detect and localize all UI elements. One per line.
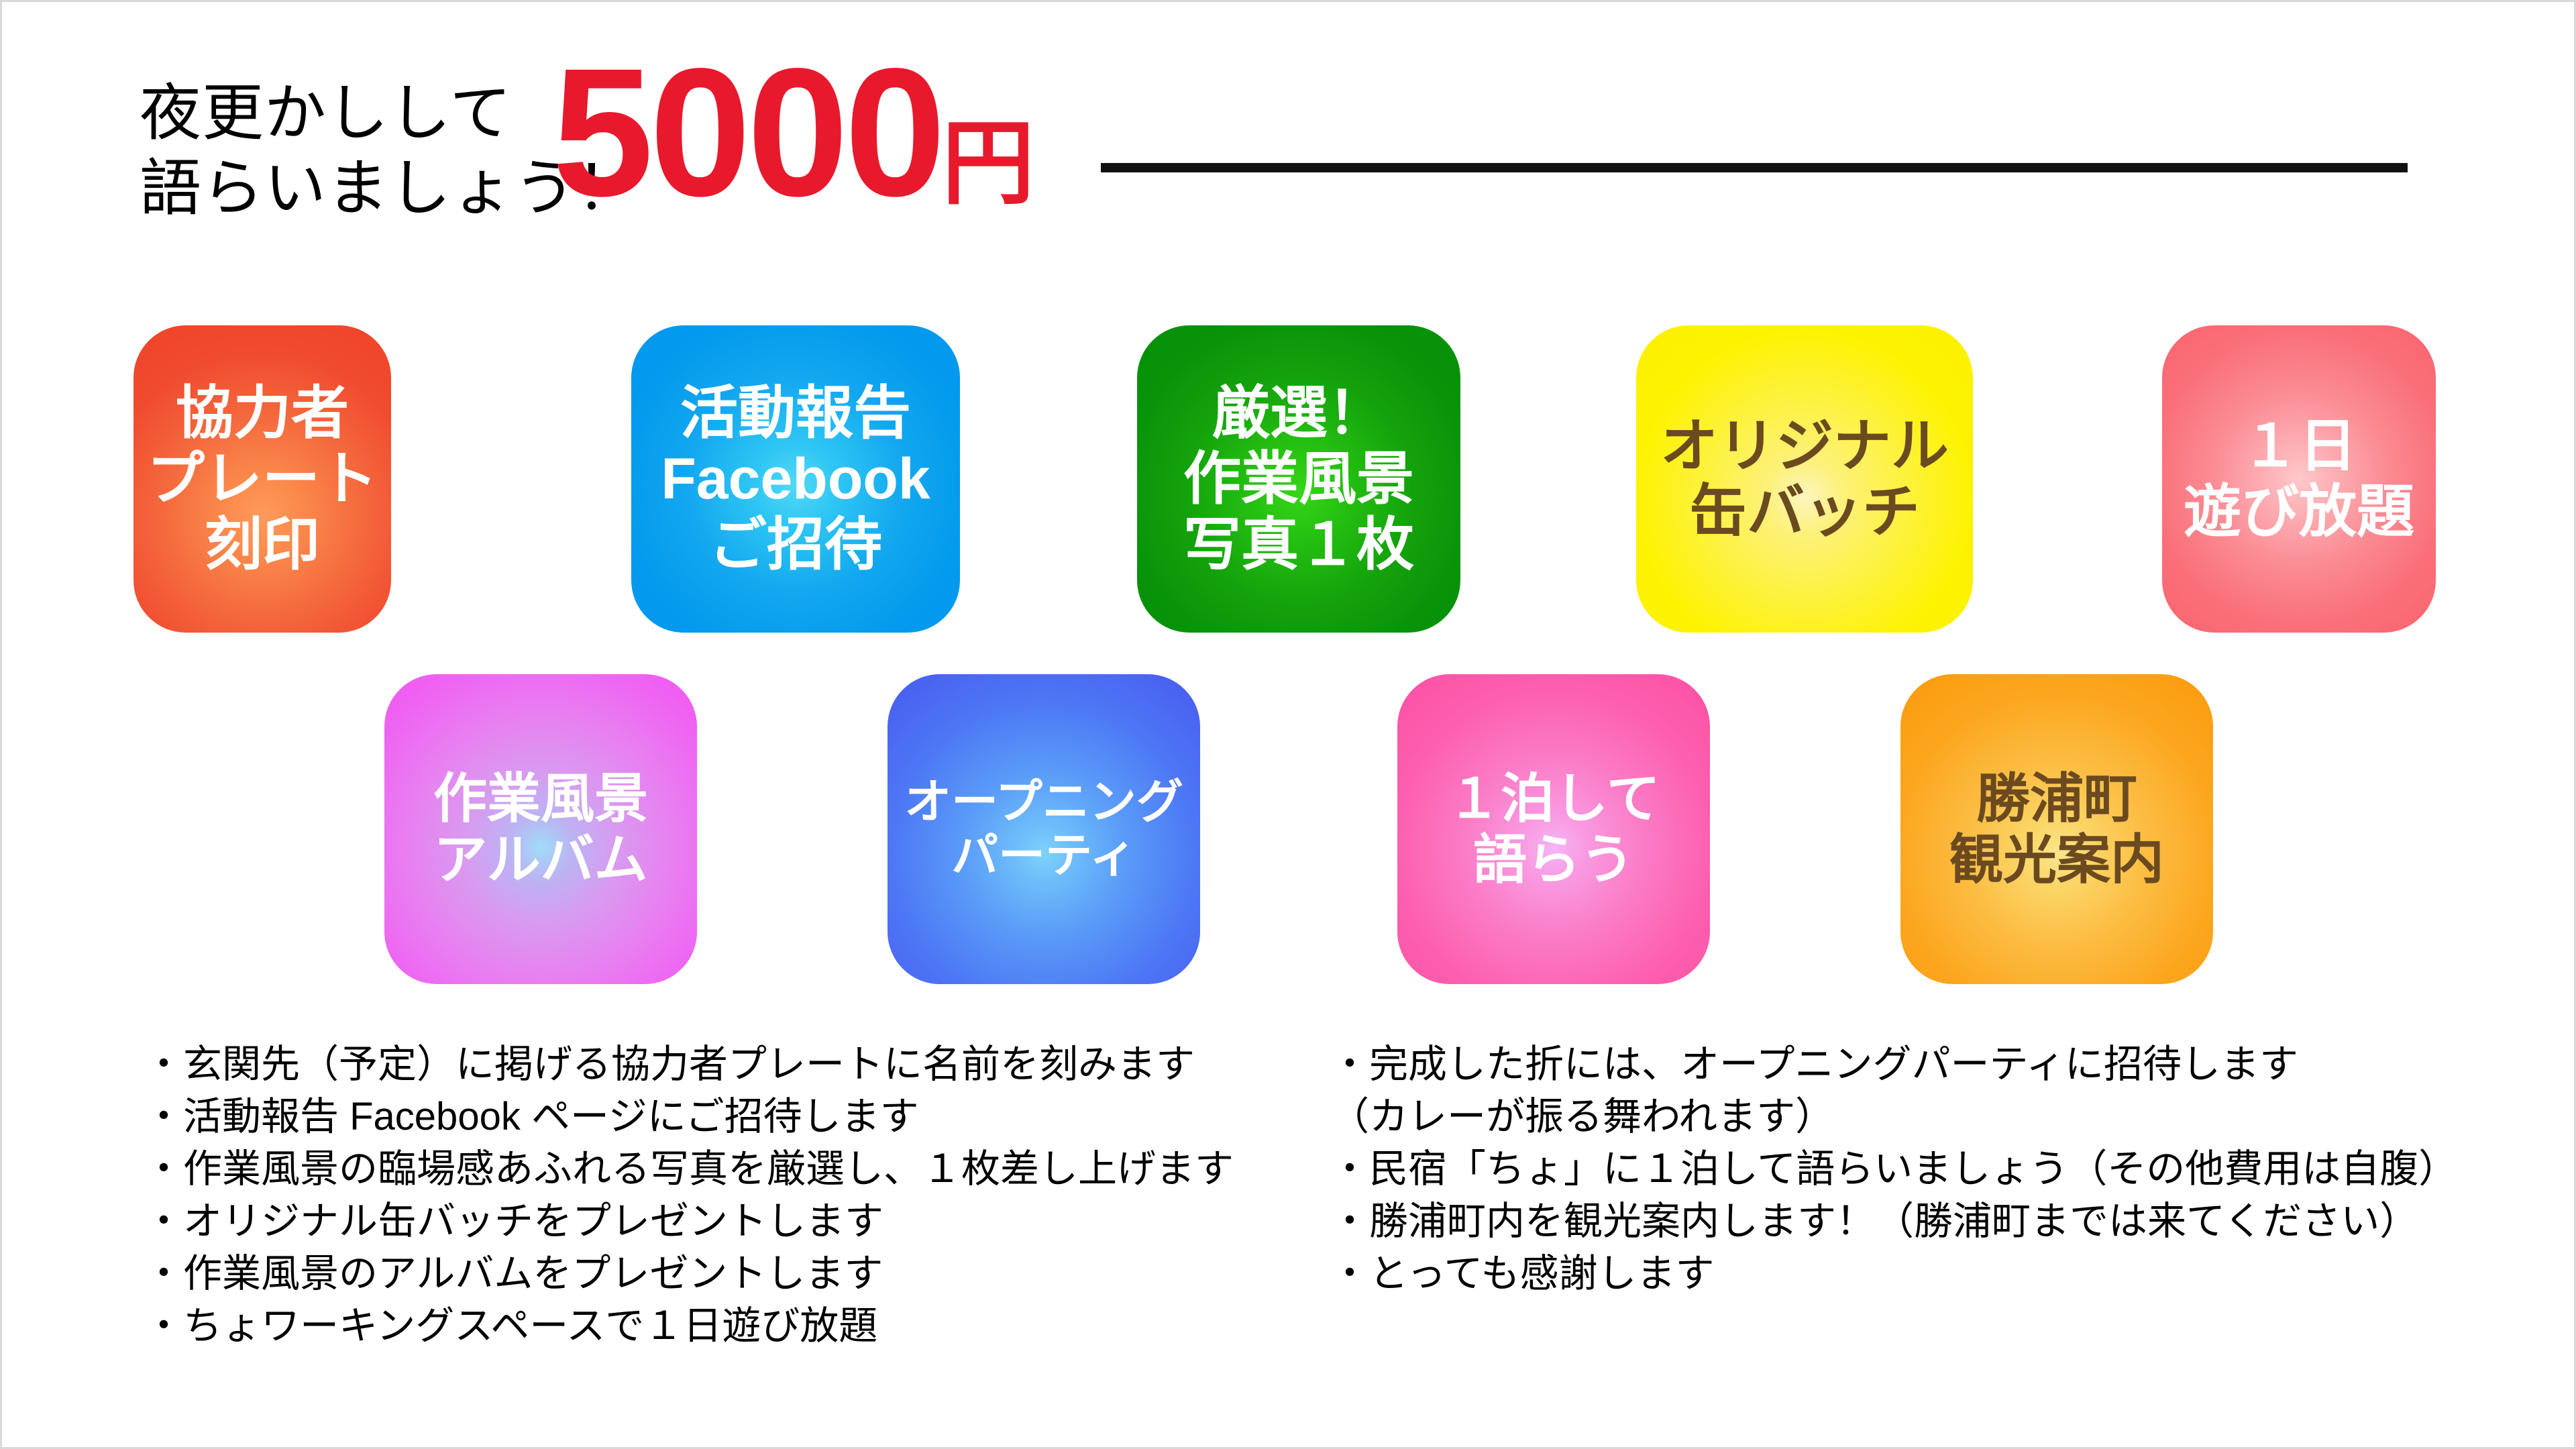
price-label: 5000円 <box>552 41 1034 223</box>
tile-line: オープニング <box>904 775 1183 829</box>
tile-sagyo-fukei-album[interactable]: 作業風景 アルバム <box>384 674 697 984</box>
list-item: ・活動報告 Facebook ページにご招待します <box>144 1091 1234 1143</box>
tile-original-kanbatchi[interactable]: オリジナル 缶バッチ <box>1636 325 1973 633</box>
tile-line: 遊び放題 <box>2184 479 2414 545</box>
tile-line: プレート <box>147 446 378 512</box>
tile-line: 勝浦町 <box>1976 768 2137 829</box>
tile-line: 厳選！ <box>1212 380 1385 446</box>
tile-ichinichi-asobi-houdai[interactable]: １日 遊び放題 <box>2162 325 2436 633</box>
tile-line: １泊して <box>1447 768 1660 829</box>
tile-line: １日 <box>2241 413 2357 479</box>
price-amount: 5000 <box>552 30 942 234</box>
list-item: ・作業風景の臨場感あふれる写真を厳選し、１枚差し上げます <box>144 1143 1234 1195</box>
header-divider-rule <box>1101 163 2408 172</box>
tile-line: 缶バッチ <box>1689 479 1920 545</box>
tile-line: パーティ <box>951 829 1136 883</box>
tile-line: 語らう <box>1473 829 1634 890</box>
tile-line: オリジナル <box>1660 413 1949 479</box>
benefits-list-left: ・玄関先（予定）に掲げる協力者プレートに名前を刻みます ・活動報告 Facebo… <box>144 1038 1234 1352</box>
list-item: ・完成した折には、オープニングパーティに招待します <box>1330 1038 2457 1091</box>
tile-line: 写真１枚 <box>1183 512 1414 578</box>
tile-line: 刻印 <box>205 512 320 578</box>
tile-line: アルバム <box>433 829 647 890</box>
list-item: ・オリジナル缶バッチをプレゼントします <box>144 1195 1234 1248</box>
list-item: ・とっても感謝します <box>1330 1248 2457 1300</box>
tile-ippaku-shite-katarau[interactable]: １泊して 語らう <box>1397 674 1710 984</box>
tile-line: ご招待 <box>709 512 882 578</box>
tile-gensen-sagyo-fukei-shashin[interactable]: 厳選！ 作業風景 写真１枚 <box>1137 325 1460 633</box>
tile-line: 作業風景 <box>433 768 648 829</box>
list-item: （カレーが振る舞われます） <box>1330 1091 2457 1143</box>
list-item: ・民宿「ちょ」に１泊して語らいましょう（その他費用は自腹） <box>1330 1143 2457 1195</box>
list-item: ・勝浦町内を観光案内します！（勝浦町までは来てください） <box>1330 1195 2457 1248</box>
tile-line: 観光案内 <box>1949 829 2164 890</box>
tile-line: 活動報告 <box>680 380 911 446</box>
tile-katsuura-cho-kanko-annai[interactable]: 勝浦町 観光案内 <box>1900 674 2213 984</box>
slide-canvas: 夜更かしして 語らいましょう！ 5000円 協力者 プレート 刻印 活動報告 F… <box>0 0 2576 1449</box>
list-item: ・作業風景のアルバムをプレゼントします <box>144 1248 1234 1300</box>
tile-line: Facebook <box>661 446 930 512</box>
benefits-list-right: ・完成した折には、オープニングパーティに招待します （カレーが振る舞われます） … <box>1330 1038 2457 1300</box>
tile-kyoryokusha-plate[interactable]: 協力者 プレート 刻印 <box>133 325 391 633</box>
tile-line: 作業風景 <box>1183 446 1414 512</box>
tile-opening-party[interactable]: オープニング パーティ <box>888 674 1200 984</box>
header-band: 夜更かしして 語らいましょう！ 5000円 <box>2 2 2576 284</box>
list-item: ・玄関先（予定）に掲げる協力者プレートに名前を刻みます <box>144 1038 1234 1091</box>
tile-line: 協力者 <box>176 380 349 446</box>
price-currency-unit: 円 <box>942 112 1034 215</box>
tile-katsudo-houkoku-facebook[interactable]: 活動報告 Facebook ご招待 <box>631 325 960 633</box>
list-item: ・ちょワーキングスペースで１日遊び放題 <box>144 1300 1234 1352</box>
